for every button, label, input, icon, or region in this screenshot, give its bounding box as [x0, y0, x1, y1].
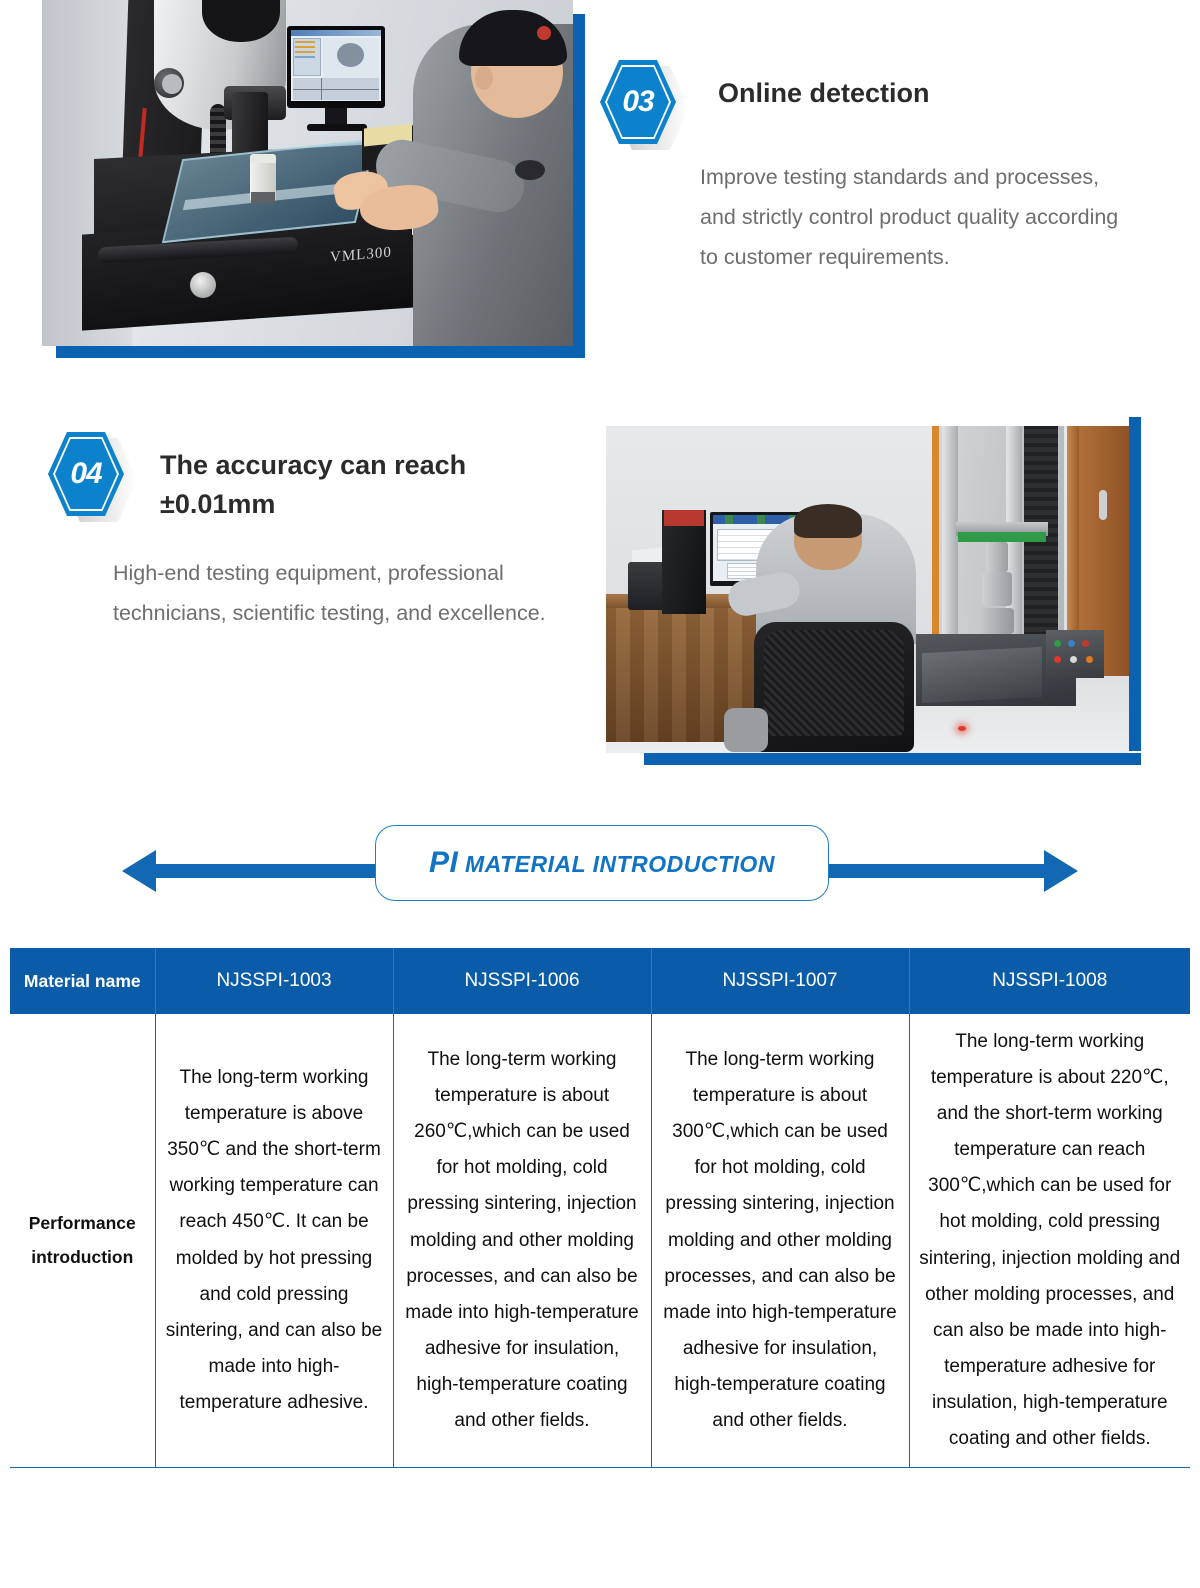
banner-title-rest: MATERIAL INTRODUCTION: [465, 851, 775, 877]
table-header-njsspi-1003: NJSSPI-1003: [155, 948, 393, 1014]
photo-accent-bar-right: [573, 14, 585, 358]
banner-title: PI MATERIAL INTRODUCTION: [429, 846, 775, 880]
feature-accuracy: 04 The accuracy can reach ±0.01mm High-e…: [48, 432, 593, 634]
screen-toolpanel: [293, 38, 321, 76]
sample-bottle-cap: [250, 154, 276, 163]
photo-accent-bar-bottom: [56, 346, 585, 358]
sample-bottle-base: [251, 192, 275, 203]
operator-ear: [475, 66, 493, 90]
office-chair-armrest: [724, 708, 768, 752]
hexagon-badge-icon: 03: [600, 60, 676, 144]
banner-pill: PI MATERIAL INTRODUCTION: [375, 825, 829, 901]
panel-indicator-orange: [1086, 656, 1093, 663]
table-header-material-name: Material name: [10, 948, 155, 1014]
pi-material-table: Material name NJSSPI-1003 NJSSPI-1006 NJ…: [10, 948, 1190, 1468]
optical-measuring-machine-photo: VML300: [42, 0, 573, 346]
computer-tower-top: [664, 510, 704, 526]
office-chair-mesh: [764, 630, 904, 736]
stage-handwheel: [190, 272, 216, 298]
table-row: Performance introduction The long-term w…: [10, 1014, 1190, 1468]
table-cell-njsspi-1007: The long-term working temperature is abo…: [651, 1014, 909, 1468]
feature-header: 04 The accuracy can reach ±0.01mm: [48, 432, 593, 524]
panel-button-blue: [1068, 640, 1075, 647]
screen-toolpanel-rows: [295, 41, 315, 43]
tester-column-left: [942, 426, 958, 652]
table-header-njsspi-1007: NJSSPI-1007: [651, 948, 909, 1014]
screen-titlebar: [291, 30, 381, 36]
panel-button-red: [1082, 640, 1089, 647]
door-handle: [1099, 490, 1107, 520]
monitor-screen: [291, 30, 381, 101]
focus-knob-center: [162, 74, 182, 94]
feature-description: Improve testing standards and processes,…: [700, 158, 1130, 277]
table-header-njsspi-1006: NJSSPI-1006: [393, 948, 651, 1014]
table-cell-njsspi-1006: The long-term working temperature is abo…: [393, 1014, 651, 1468]
tester-load-cell: [986, 542, 1008, 572]
computer-mouse: [515, 160, 545, 180]
arrow-left-icon: [122, 850, 156, 892]
table-header-row: Material name NJSSPI-1003 NJSSPI-1006 NJ…: [10, 948, 1190, 1014]
feature-number: 04: [48, 432, 124, 516]
photo-accent-bar-right: [1129, 417, 1141, 751]
feature-number: 03: [600, 60, 676, 144]
table-row-label-performance-introduction: Performance introduction: [10, 1014, 155, 1468]
monitor-bezel: [287, 26, 385, 108]
tester-control-panel: [1046, 630, 1104, 678]
feature-header: 03 Online detection: [600, 60, 1140, 144]
feature-description: High-end testing equipment, professional…: [113, 554, 583, 634]
table-cell-njsspi-1008: The long-term working temperature is abo…: [909, 1014, 1190, 1468]
laser-dot: [958, 726, 966, 731]
arrow-right-icon: [1044, 850, 1078, 892]
panel-button-green: [1054, 640, 1061, 647]
screen-crosshair-h: [293, 89, 379, 90]
tester-orange-stripe: [932, 426, 939, 646]
tester-green-band: [958, 532, 1046, 542]
feature-title: The accuracy can reach ±0.01mm: [160, 432, 560, 524]
photo-accent-bar-bottom: [644, 753, 1141, 765]
panel-indicator-white: [1070, 656, 1077, 663]
banner-title-prefix: PI: [429, 846, 458, 879]
feature-online-detection: 03 Online detection Improve testing stan…: [600, 60, 1140, 277]
tester-lower-grip: [980, 608, 1014, 634]
tensile-testing-lab-photo: [606, 426, 1129, 753]
table-cell-njsspi-1003: The long-term working temperature is abo…: [155, 1014, 393, 1468]
technician-hair: [794, 504, 862, 538]
screen-measured-part: [337, 43, 364, 67]
tester-base-front: [922, 647, 1042, 703]
feature-title: Online detection: [718, 60, 930, 113]
table-header-njsspi-1008: NJSSPI-1008: [909, 948, 1190, 1014]
panel-indicator-red: [1054, 656, 1061, 663]
online-detection-photo-frame: VML300: [42, 0, 585, 358]
accuracy-photo-frame: [606, 417, 1141, 765]
hexagon-badge-icon: 04: [48, 432, 124, 516]
monitor-base: [307, 124, 367, 131]
tester-upper-grip: [982, 572, 1012, 606]
cap-logo: [537, 26, 551, 40]
